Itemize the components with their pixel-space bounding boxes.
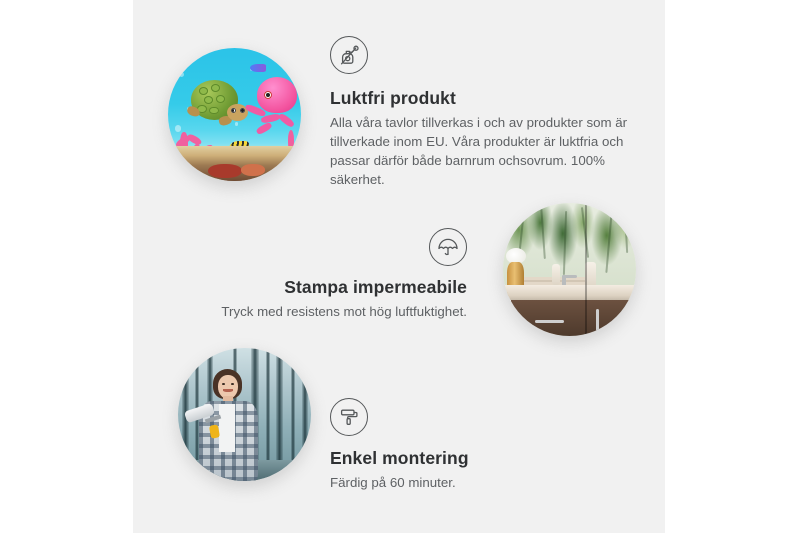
feature-block-easy-mounting: Enkel montering Färdig på 60 minuter.: [330, 398, 620, 493]
feature-description-easy-mounting: Färdig på 60 minuter.: [330, 474, 620, 493]
icon-wrap-easy-mounting: [330, 398, 620, 436]
photo-bathroom-leaf-wallpaper: [503, 203, 636, 336]
umbrella-icon: [429, 228, 467, 266]
screenshot-stage: Luktfri produkt Alla våra tavlor tillver…: [0, 0, 800, 533]
feature-block-waterproof: Stampa impermeabile Tryck med resistens …: [182, 228, 467, 322]
icon-wrap-odourless: [330, 36, 630, 74]
paint-roller-icon: [330, 398, 368, 436]
feature-description-odourless: Alla våra tavlor tillverkas i och av pro…: [330, 114, 630, 190]
icon-wrap-waterproof: [182, 228, 467, 266]
no-odour-spray-bottle-icon: [330, 36, 368, 74]
photo-underwater-cartoon: [168, 48, 301, 181]
feature-block-odourless: Luktfri produkt Alla våra tavlor tillver…: [330, 36, 630, 189]
feature-description-waterproof: Tryck med resistens mot hög luftfuktighe…: [182, 303, 467, 322]
feature-title-easy-mounting: Enkel montering: [330, 448, 620, 470]
photo-woman-painter-forest: [178, 348, 311, 481]
feature-title-odourless: Luktfri produkt: [330, 88, 630, 110]
feature-title-waterproof: Stampa impermeabile: [182, 277, 467, 299]
